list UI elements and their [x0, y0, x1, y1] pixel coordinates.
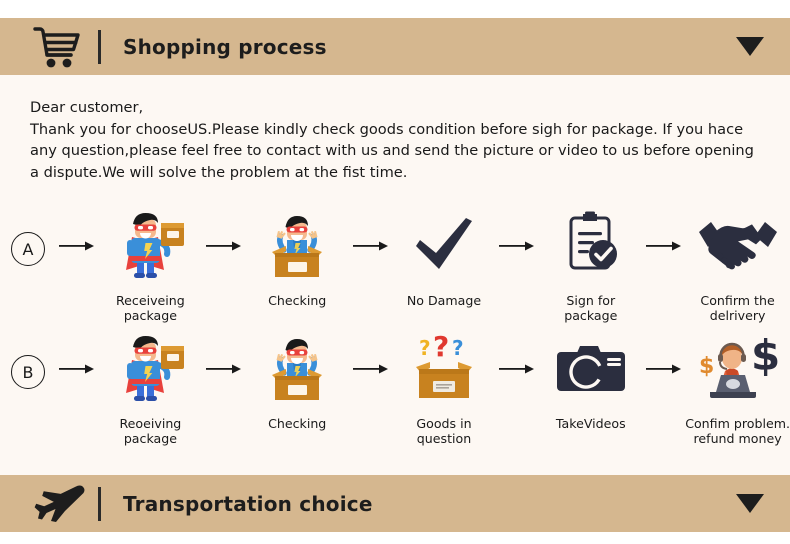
superhero-with-package-icon	[98, 210, 203, 282]
arrow-icon	[643, 333, 685, 375]
arrow-icon	[203, 333, 245, 375]
shopping-process-title: Shopping process	[123, 35, 736, 59]
intro-line-1: Dear customer,	[30, 97, 760, 119]
checkmark-icon	[392, 210, 497, 282]
flow-step-label: Goods in question	[392, 416, 497, 446]
arrow-icon	[496, 210, 538, 252]
person-in-open-box-icon	[245, 210, 350, 282]
flow-step-label: No Damage	[407, 293, 481, 308]
flow-step: No Damage	[392, 210, 497, 308]
flow-step: Checking	[245, 333, 350, 431]
arrow-icon	[56, 210, 98, 252]
arrow-icon	[203, 210, 245, 252]
flow-step: Reoeiving package	[98, 333, 203, 446]
flow-marker-b-label: B	[11, 355, 45, 389]
shopping-process-header[interactable]: Shopping process	[0, 18, 790, 75]
flow-step-label: Checking	[268, 293, 326, 308]
flow-step: ? ? ? Goods in question	[392, 333, 497, 446]
flow-step-label: Confirm the delrivery	[685, 293, 790, 323]
flow-step-label: Receiveing package	[98, 293, 203, 323]
header-divider	[98, 487, 101, 521]
box-with-question-marks-icon: ? ? ?	[392, 333, 497, 405]
flow-step: Checking	[245, 210, 350, 308]
chevron-down-icon[interactable]	[736, 494, 764, 513]
support-agent-refund-icon: $ $	[685, 333, 790, 405]
transportation-choice-header[interactable]: Transportation choice	[0, 475, 790, 532]
intro-line-3: any question,please feel free to contact…	[30, 140, 760, 162]
chevron-down-icon[interactable]	[736, 37, 764, 56]
svg-text:?: ?	[433, 333, 449, 363]
svg-text:$: $	[699, 354, 714, 379]
clipboard-check-icon	[538, 210, 643, 282]
promo-banner-page: Shopping process Dear customer, Thank yo…	[0, 0, 790, 544]
intro-line-2: Thank you for chooseUS.Please kindly che…	[30, 119, 760, 141]
flow-step: TakeVideos	[538, 333, 643, 431]
svg-text:?: ?	[419, 336, 431, 360]
arrow-icon	[350, 333, 392, 375]
flow-step-label: Confim problem. refund money	[685, 416, 790, 446]
arrow-icon	[496, 333, 538, 375]
flow-step-label: TakeVideos	[556, 416, 626, 431]
arrow-icon	[350, 210, 392, 252]
header-divider	[98, 30, 101, 64]
person-in-open-box-icon	[245, 333, 350, 405]
shopping-process-panel: Dear customer, Thank you for chooseUS.Pl…	[0, 75, 790, 475]
superhero-with-package-icon	[98, 333, 203, 405]
arrow-icon	[643, 210, 685, 252]
handshake-icon	[685, 210, 790, 282]
flow-step: $ $	[685, 333, 790, 446]
camera-icon	[538, 333, 643, 405]
flow-step-label: Sign for package	[538, 293, 643, 323]
svg-text:$: $	[751, 333, 780, 380]
flow-step: Confirm the delrivery	[685, 210, 790, 323]
shopping-cart-icon	[20, 18, 94, 75]
flow-step-label: Checking	[268, 416, 326, 431]
intro-text: Dear customer, Thank you for chooseUS.Pl…	[30, 97, 760, 183]
flow-row-b: B	[0, 333, 790, 446]
flow-marker-b: B	[0, 333, 56, 389]
flow-marker-a-label: A	[11, 232, 45, 266]
svg-text:?: ?	[452, 336, 464, 360]
flow-step: Receiveing package	[98, 210, 203, 323]
arrow-icon	[56, 333, 98, 375]
airplane-icon	[20, 475, 94, 532]
transportation-choice-title: Transportation choice	[123, 492, 736, 516]
flow-step-label: Reoeiving package	[98, 416, 203, 446]
intro-line-4: a dispute.We will solve the problem at t…	[30, 162, 760, 184]
flow-row-a: A	[0, 210, 790, 323]
flow-step: Sign for package	[538, 210, 643, 323]
flow-marker-a: A	[0, 210, 56, 266]
